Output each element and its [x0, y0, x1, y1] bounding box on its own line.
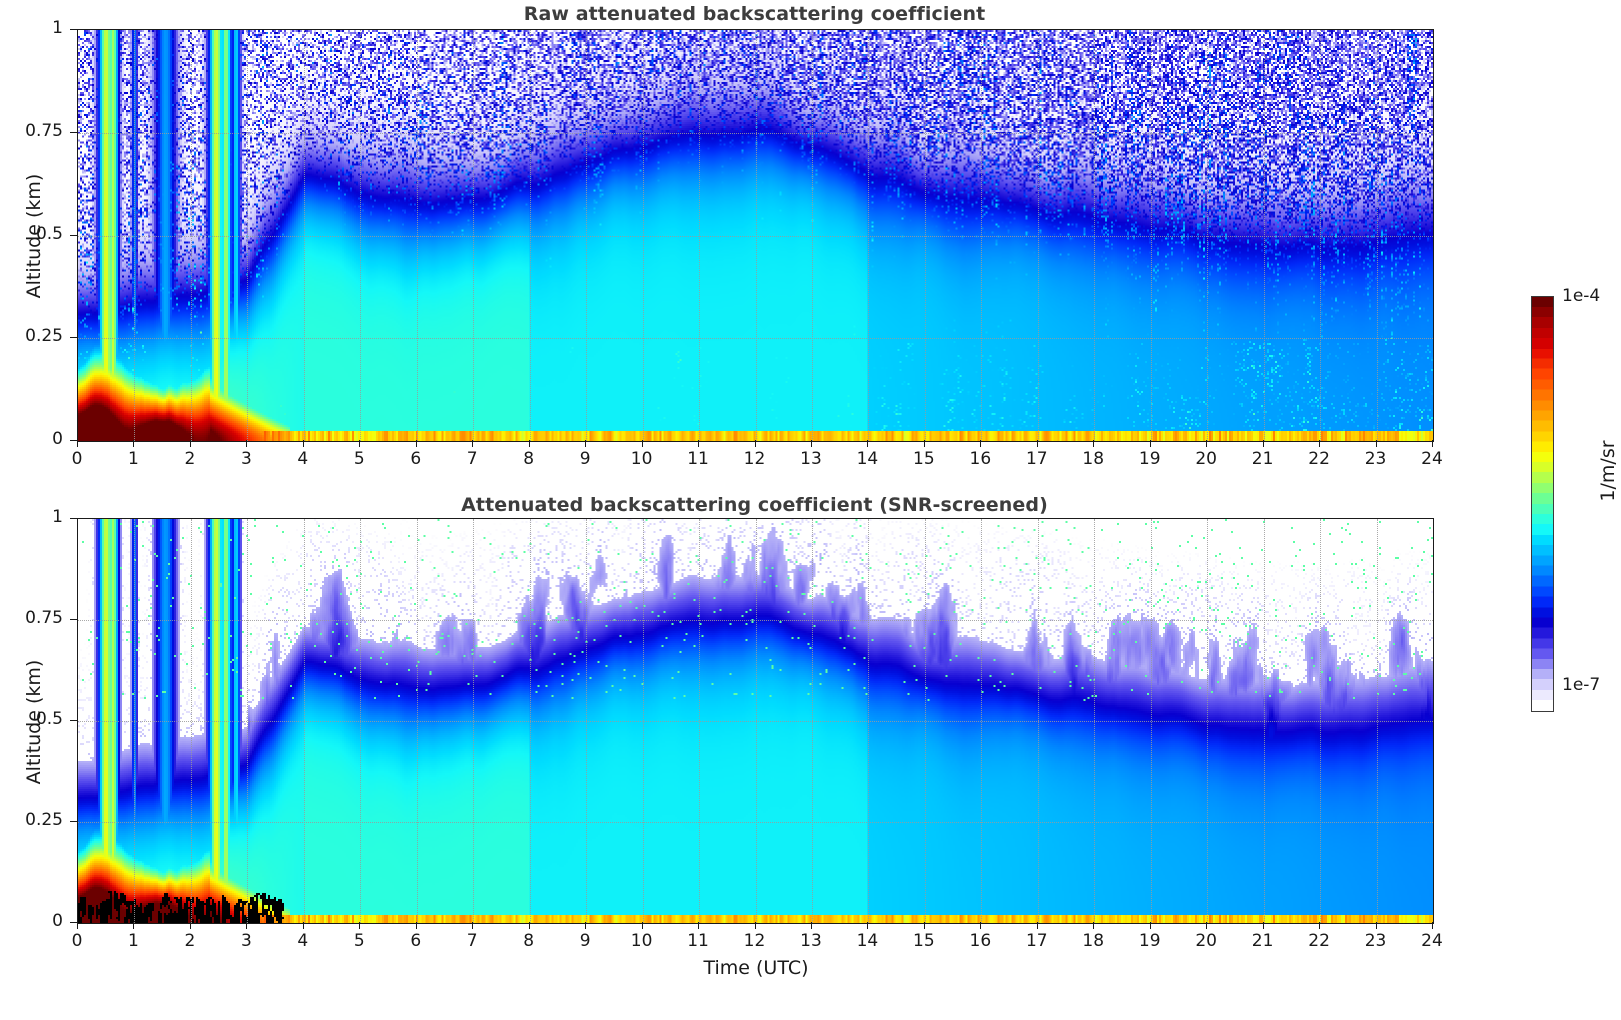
x-tick-label: 8 — [509, 449, 549, 469]
x-tick-label: 3 — [226, 449, 266, 469]
x-tick-label: 15 — [904, 931, 944, 951]
heatmap-panel-raw[interactable] — [77, 29, 1434, 442]
y-tick-label: 1 — [3, 18, 63, 38]
x-tick-mark — [190, 922, 191, 929]
colorbar-title: 1/m/sr — [1597, 401, 1619, 541]
x-tick-label: 1 — [113, 931, 153, 951]
x-tick-mark — [980, 922, 981, 929]
x-tick-mark — [1150, 922, 1151, 929]
x-tick-mark — [642, 440, 643, 447]
x-tick-mark — [698, 922, 699, 929]
x-tick-label: 3 — [226, 931, 266, 951]
x-tick-label: 24 — [1412, 449, 1452, 469]
x-tick-label: 4 — [283, 931, 323, 951]
x-tick-label: 0 — [57, 449, 97, 469]
colorbar-gradient — [1532, 297, 1553, 711]
x-tick-mark — [77, 440, 78, 447]
x-tick-label: 8 — [509, 931, 549, 951]
x-tick-label: 9 — [565, 931, 605, 951]
x-tick-mark — [1037, 922, 1038, 929]
x-tick-label: 2 — [170, 449, 210, 469]
x-tick-mark — [529, 440, 530, 447]
colorbar-max-label: 1e-4 — [1562, 286, 1600, 306]
x-tick-label: 10 — [622, 449, 662, 469]
x-tick-mark — [1319, 922, 1320, 929]
x-tick-mark — [755, 440, 756, 447]
y-tick-label: 0 — [3, 429, 63, 449]
x-tick-label: 5 — [339, 449, 379, 469]
x-tick-mark — [1206, 440, 1207, 447]
x-tick-mark — [1263, 922, 1264, 929]
x-tick-mark — [303, 440, 304, 447]
y-tick-label: 0 — [3, 911, 63, 931]
y-tick-mark — [70, 922, 77, 923]
x-tick-mark — [755, 922, 756, 929]
x-tick-label: 17 — [1017, 931, 1057, 951]
x-tick-mark — [359, 922, 360, 929]
x-tick-label: 1 — [113, 449, 153, 469]
x-tick-label: 16 — [960, 449, 1000, 469]
y-tick-mark — [70, 619, 77, 620]
y-tick-mark — [70, 821, 77, 822]
x-tick-mark — [1037, 440, 1038, 447]
y-tick-label: 1 — [3, 507, 63, 527]
x-tick-label: 23 — [1356, 449, 1396, 469]
x-axis-title: Time (UTC) — [626, 957, 886, 979]
y-tick-mark — [70, 29, 77, 30]
x-tick-label: 20 — [1186, 931, 1226, 951]
x-tick-mark — [585, 922, 586, 929]
x-tick-mark — [246, 440, 247, 447]
x-tick-label: 7 — [452, 931, 492, 951]
x-tick-label: 0 — [57, 931, 97, 951]
x-tick-mark — [1376, 922, 1377, 929]
x-tick-label: 17 — [1017, 449, 1057, 469]
x-tick-label: 6 — [396, 931, 436, 951]
x-tick-label: 2 — [170, 931, 210, 951]
x-tick-label: 10 — [622, 931, 662, 951]
x-tick-mark — [980, 440, 981, 447]
x-tick-label: 13 — [791, 931, 831, 951]
x-tick-mark — [246, 922, 247, 929]
x-tick-label: 14 — [847, 449, 887, 469]
x-tick-mark — [303, 922, 304, 929]
colorbar[interactable] — [1531, 296, 1554, 712]
y-axis-title-top: Altitude (km) — [23, 136, 45, 336]
x-tick-mark — [924, 440, 925, 447]
x-tick-label: 19 — [1130, 931, 1170, 951]
y-tick-mark — [70, 720, 77, 721]
x-tick-label: 12 — [735, 931, 775, 951]
y-axis-title-bottom: Altitude (km) — [23, 622, 45, 822]
x-tick-mark — [585, 440, 586, 447]
x-tick-mark — [1376, 440, 1377, 447]
x-tick-mark — [867, 440, 868, 447]
x-tick-label: 16 — [960, 931, 1000, 951]
x-tick-mark — [416, 922, 417, 929]
x-tick-mark — [133, 440, 134, 447]
x-tick-label: 20 — [1186, 449, 1226, 469]
heatmap-image-screened — [78, 519, 1433, 923]
x-tick-mark — [1319, 440, 1320, 447]
x-tick-mark — [190, 440, 191, 447]
x-tick-label: 21 — [1243, 449, 1283, 469]
x-tick-label: 19 — [1130, 449, 1170, 469]
x-tick-label: 22 — [1299, 449, 1339, 469]
x-tick-mark — [1093, 440, 1094, 447]
x-tick-mark — [1263, 440, 1264, 447]
x-tick-mark — [133, 922, 134, 929]
x-tick-label: 18 — [1073, 449, 1113, 469]
colorbar-min-label: 1e-7 — [1562, 675, 1600, 695]
x-tick-mark — [811, 440, 812, 447]
x-tick-mark — [1432, 440, 1433, 447]
y-tick-mark — [70, 440, 77, 441]
y-tick-mark — [70, 132, 77, 133]
x-tick-label: 12 — [735, 449, 775, 469]
x-tick-mark — [359, 440, 360, 447]
x-tick-mark — [642, 922, 643, 929]
y-tick-mark — [70, 518, 77, 519]
x-tick-label: 22 — [1299, 931, 1339, 951]
figure-canvas: Raw attenuated backscattering coefficien… — [0, 0, 1621, 1020]
heatmap-image-raw — [78, 30, 1433, 441]
x-tick-label: 15 — [904, 449, 944, 469]
y-tick-mark — [70, 235, 77, 236]
x-tick-mark — [811, 922, 812, 929]
x-tick-mark — [1432, 922, 1433, 929]
x-tick-label: 7 — [452, 449, 492, 469]
x-tick-label: 21 — [1243, 931, 1283, 951]
x-tick-label: 5 — [339, 931, 379, 951]
x-tick-mark — [472, 440, 473, 447]
x-tick-label: 14 — [847, 931, 887, 951]
x-tick-mark — [924, 922, 925, 929]
x-tick-label: 4 — [283, 449, 323, 469]
y-tick-mark — [70, 337, 77, 338]
x-tick-label: 9 — [565, 449, 605, 469]
x-tick-mark — [416, 440, 417, 447]
x-tick-mark — [529, 922, 530, 929]
x-tick-mark — [1206, 922, 1207, 929]
x-tick-label: 23 — [1356, 931, 1396, 951]
panel-title-raw: Raw attenuated backscattering coefficien… — [77, 3, 1432, 25]
x-tick-label: 11 — [678, 449, 718, 469]
x-tick-label: 18 — [1073, 931, 1113, 951]
x-tick-mark — [698, 440, 699, 447]
x-tick-label: 11 — [678, 931, 718, 951]
heatmap-panel-screened[interactable] — [77, 518, 1434, 924]
x-tick-mark — [472, 922, 473, 929]
x-tick-mark — [1150, 440, 1151, 447]
x-tick-mark — [1093, 922, 1094, 929]
x-tick-mark — [867, 922, 868, 929]
x-tick-label: 24 — [1412, 931, 1452, 951]
x-tick-label: 13 — [791, 449, 831, 469]
x-tick-label: 6 — [396, 449, 436, 469]
panel-title-screened: Attenuated backscattering coefficient (S… — [77, 494, 1432, 516]
x-tick-mark — [77, 922, 78, 929]
